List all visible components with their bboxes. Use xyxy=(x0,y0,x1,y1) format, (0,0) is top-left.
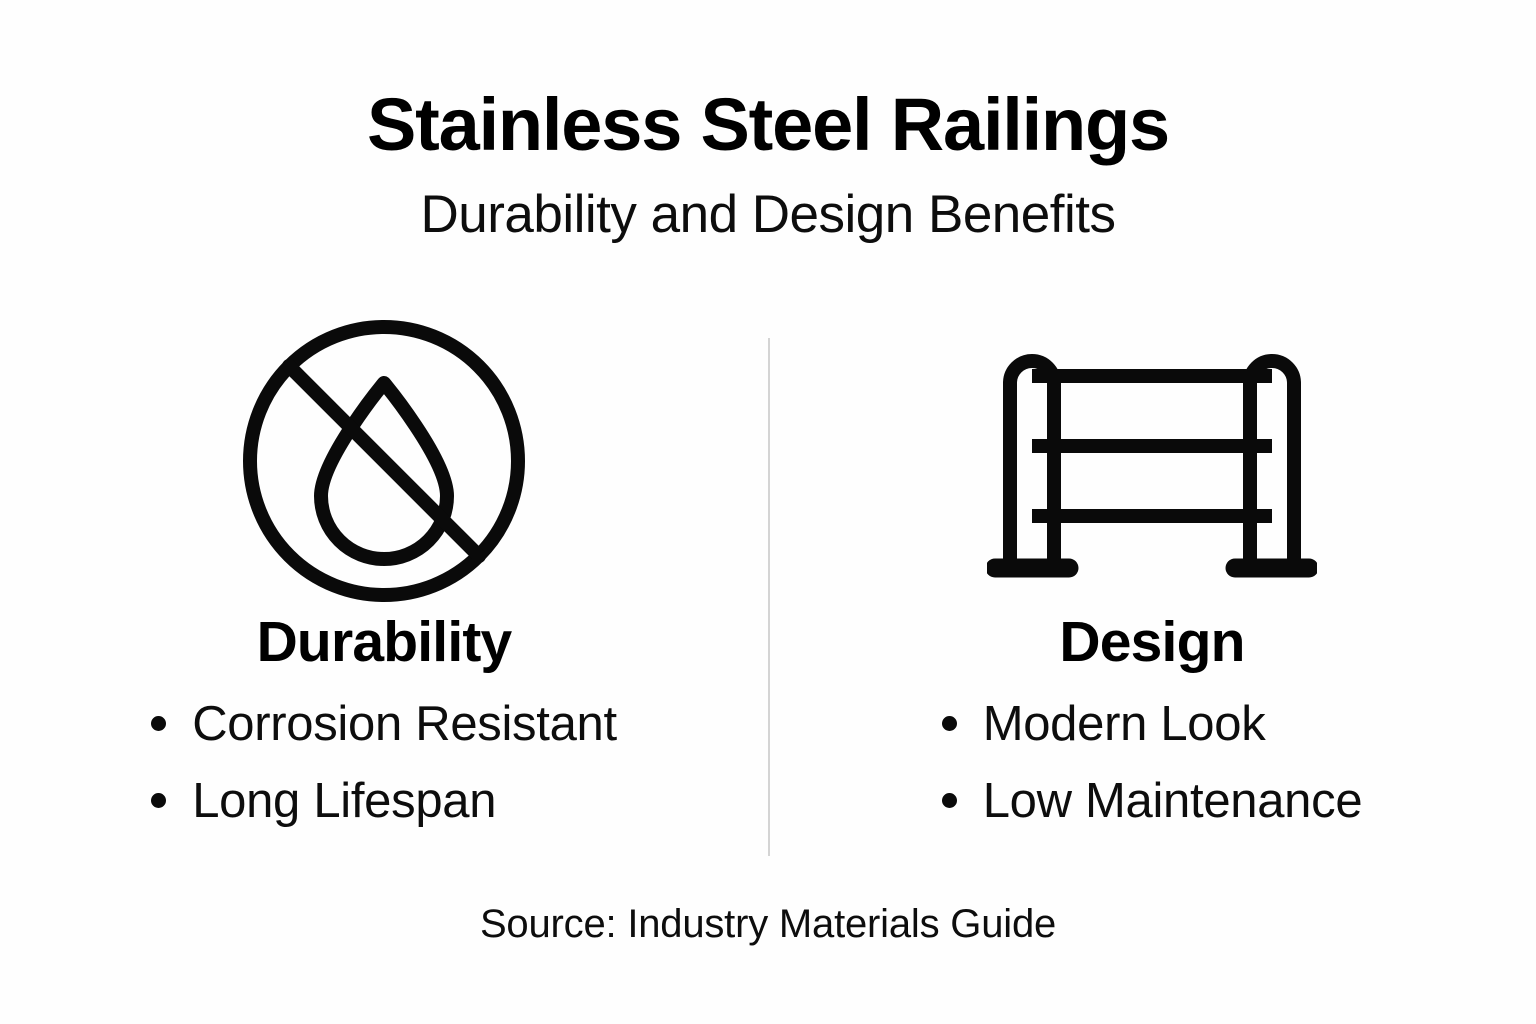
bullet-dot-icon xyxy=(942,716,957,731)
bullet-label: Long Lifespan xyxy=(192,776,496,827)
list-item: Corrosion Resistant xyxy=(151,699,617,750)
column-design: Design Modern Look Low Maintenance xyxy=(768,320,1536,854)
bullet-list-design: Modern Look Low Maintenance xyxy=(942,699,1363,854)
no-water-droplet-icon xyxy=(243,320,525,602)
bullet-list-durability: Corrosion Resistant Long Lifespan xyxy=(151,699,617,854)
source-caption: Source: Industry Materials Guide xyxy=(0,902,1536,947)
bullet-dot-icon xyxy=(151,716,166,731)
list-item: Low Maintenance xyxy=(942,776,1363,827)
column-heading-durability: Durability xyxy=(257,614,512,671)
bullet-label: Corrosion Resistant xyxy=(192,699,617,750)
bullet-dot-icon xyxy=(151,793,166,808)
list-item: Modern Look xyxy=(942,699,1363,750)
list-item: Long Lifespan xyxy=(151,776,617,827)
railing-icon xyxy=(987,320,1317,602)
column-divider xyxy=(768,338,770,856)
bullet-label: Low Maintenance xyxy=(983,776,1363,827)
infographic-poster: Stainless Steel Railings Durability and … xyxy=(0,0,1536,1024)
page-title: Stainless Steel Railings xyxy=(0,86,1536,164)
column-heading-design: Design xyxy=(1059,614,1244,671)
bullet-dot-icon xyxy=(942,793,957,808)
page-subtitle: Durability and Design Benefits xyxy=(0,186,1536,244)
header: Stainless Steel Railings Durability and … xyxy=(0,86,1536,244)
column-durability: Durability Corrosion Resistant Long Life… xyxy=(0,320,768,854)
bullet-label: Modern Look xyxy=(983,699,1266,750)
footer: Source: Industry Materials Guide xyxy=(0,902,1536,947)
